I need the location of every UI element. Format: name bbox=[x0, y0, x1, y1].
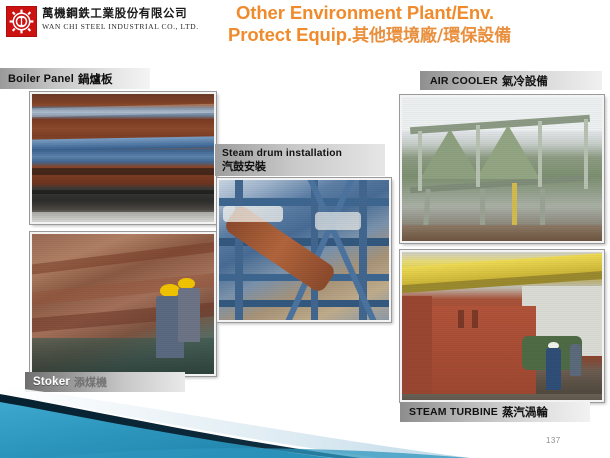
slide-canvas: 萬機鋼鉄工業股份有限公司 WAN CHI STEEL INDUSTRIAL CO… bbox=[0, 0, 610, 458]
page-number: 137 bbox=[546, 436, 561, 445]
company-name-cn: 萬機鋼鉄工業股份有限公司 bbox=[42, 7, 199, 20]
caption-steam-drum-en: Steam drum installation bbox=[222, 148, 342, 160]
caption-boiler-panel-cn: 鍋爐板 bbox=[78, 71, 113, 87]
page-title: Other Environment Plant/Env. Protect Equ… bbox=[228, 2, 606, 47]
page-title-line2-cn: 其他環境廠/環保設備 bbox=[352, 26, 511, 46]
photo-stoker-image bbox=[32, 234, 214, 374]
caption-boiler-panel-en: Boiler Panel bbox=[8, 73, 74, 85]
caption-air-cooler-cn: 氣冷設備 bbox=[502, 73, 548, 89]
company-logo-block: 萬機鋼鉄工業股份有限公司 WAN CHI STEEL INDUSTRIAL CO… bbox=[6, 6, 206, 44]
photo-steam-drum bbox=[217, 178, 391, 322]
photo-stoker bbox=[30, 232, 216, 376]
photo-air-cooler bbox=[400, 95, 604, 243]
caption-boiler-panel: Boiler Panel 鍋爐板 bbox=[0, 68, 150, 89]
photo-boiler-panel bbox=[30, 92, 216, 224]
company-name-block: 萬機鋼鉄工業股份有限公司 WAN CHI STEEL INDUSTRIAL CO… bbox=[42, 6, 199, 32]
photo-air-cooler-image bbox=[402, 97, 602, 241]
page-title-line2-en: Protect Equip. bbox=[228, 24, 352, 45]
page-title-line1: Other Environment Plant/Env. bbox=[228, 2, 606, 24]
company-name-en: WAN CHI STEEL INDUSTRIAL CO., LTD. bbox=[42, 22, 199, 32]
page-title-line2: Protect Equip.其他環境廠/環保設備 bbox=[228, 24, 606, 47]
photo-steam-drum-image bbox=[219, 180, 389, 320]
caption-air-cooler-en: AIR COOLER bbox=[430, 75, 498, 87]
photo-boiler-panel-image bbox=[32, 94, 214, 222]
caption-steam-drum-cn: 汽鼓安裝 bbox=[222, 160, 266, 173]
decorative-swoosh bbox=[0, 384, 610, 458]
photo-steam-turbine-image bbox=[402, 252, 602, 400]
caption-steam-drum: Steam drum installation 汽鼓安裝 bbox=[215, 144, 385, 176]
caption-air-cooler: AIR COOLER 氣冷設備 bbox=[420, 71, 602, 90]
wan-chi-gear-logo-icon bbox=[6, 6, 37, 37]
photo-steam-turbine bbox=[400, 250, 604, 402]
